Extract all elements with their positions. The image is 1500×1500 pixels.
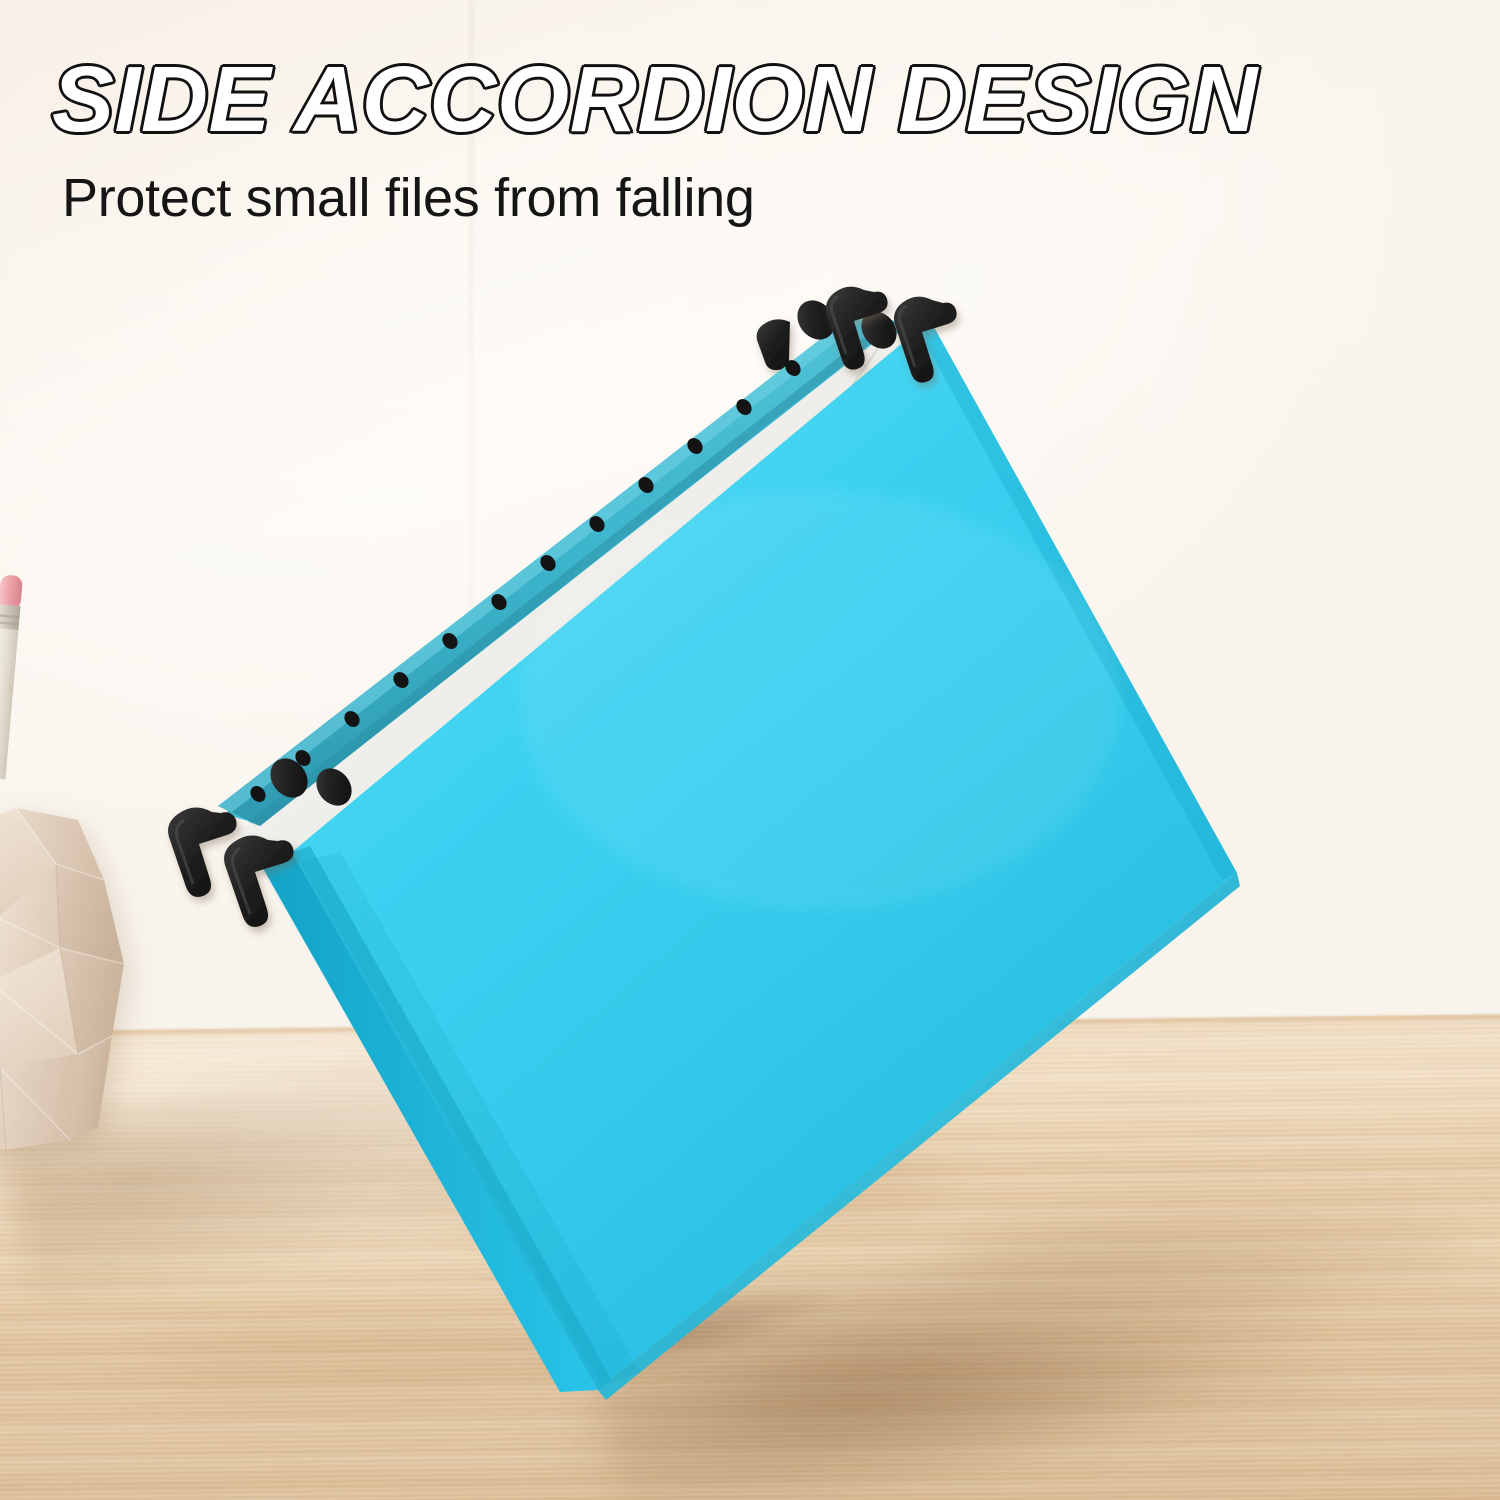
folder-hook-rear-left	[757, 319, 790, 370]
headline-block: SIDE ACCORDION DESIGN Protect small file…	[52, 52, 1252, 229]
page-title: SIDE ACCORDION DESIGN	[52, 52, 1252, 147]
product-scene: SIDE ACCORDION DESIGN Protect small file…	[0, 0, 1500, 1500]
page-subtitle: Protect small files from falling	[62, 167, 1252, 229]
folder-front-panel	[256, 320, 1240, 1400]
